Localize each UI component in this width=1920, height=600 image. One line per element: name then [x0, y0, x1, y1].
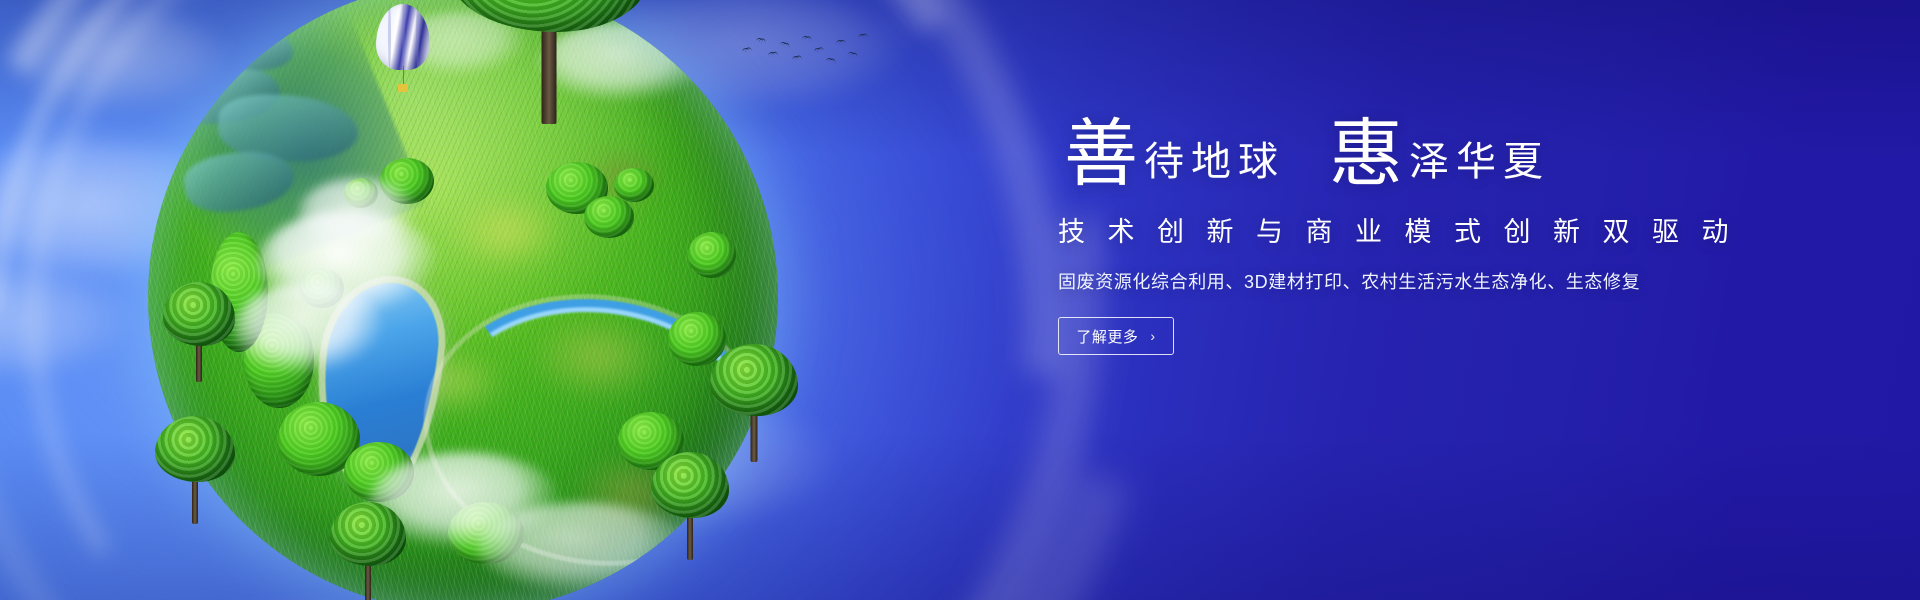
bird-flock — [740, 30, 870, 70]
shrub-cluster — [688, 232, 736, 278]
rim-tree — [328, 502, 408, 600]
shrub-cluster — [614, 168, 654, 202]
headline-phrase-2-big: 惠 — [1329, 120, 1403, 190]
headline-phrase-1-big: 善 — [1064, 120, 1138, 190]
large-tree — [444, 0, 654, 112]
balloon-cord — [403, 66, 404, 86]
rim-tree — [152, 412, 238, 522]
hot-air-balloon-icon — [376, 4, 430, 100]
shrub-cluster — [584, 196, 634, 238]
headline-phrase-2: 惠 泽华夏 — [1329, 120, 1550, 190]
rim-tree — [708, 342, 800, 462]
headline-phrase-1: 善 待地球 — [1064, 120, 1285, 190]
balloon-basket — [398, 84, 408, 92]
chevron-right-icon: › — [1150, 329, 1155, 343]
hero-content: 善 待地球 惠 泽华夏 技 术 创 新 与 商 业 模 式 创 新 双 驱 动 … — [1058, 120, 1778, 355]
headline-phrase-1-small: 待地球 — [1144, 142, 1285, 182]
headline-phrase-2-small: 泽华夏 — [1409, 142, 1550, 182]
rim-tree — [162, 282, 236, 378]
hero-description: 固废资源化综合利用、3D建材打印、农村生活污水生态净化、生态修复 — [1058, 268, 1778, 294]
rim-tree — [648, 452, 732, 560]
hero-banner: 善 待地球 惠 泽华夏 技 术 创 新 与 商 业 模 式 创 新 双 驱 动 … — [0, 0, 1920, 600]
hero-subtitle: 技 术 创 新 与 商 业 模 式 创 新 双 驱 动 — [1058, 210, 1778, 249]
learn-more-button[interactable]: 了解更多 › — [1058, 317, 1174, 355]
page-title: 善 待地球 惠 泽华夏 — [1064, 120, 1778, 190]
earth-globe-artwork — [148, 0, 808, 600]
learn-more-label: 了解更多 — [1076, 326, 1138, 347]
